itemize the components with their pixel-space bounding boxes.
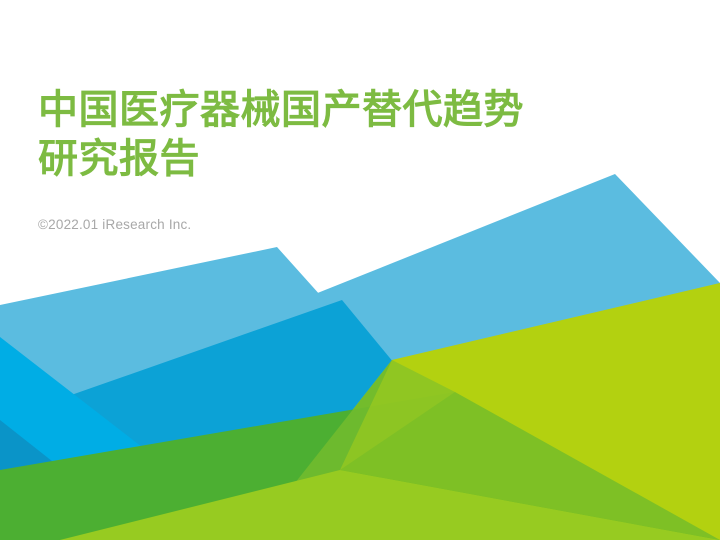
cover-artwork xyxy=(0,0,720,540)
report-cover-slide: 中国医疗器械国产替代趋势 研究报告 ©2022.01 iResearch Inc… xyxy=(0,0,720,540)
